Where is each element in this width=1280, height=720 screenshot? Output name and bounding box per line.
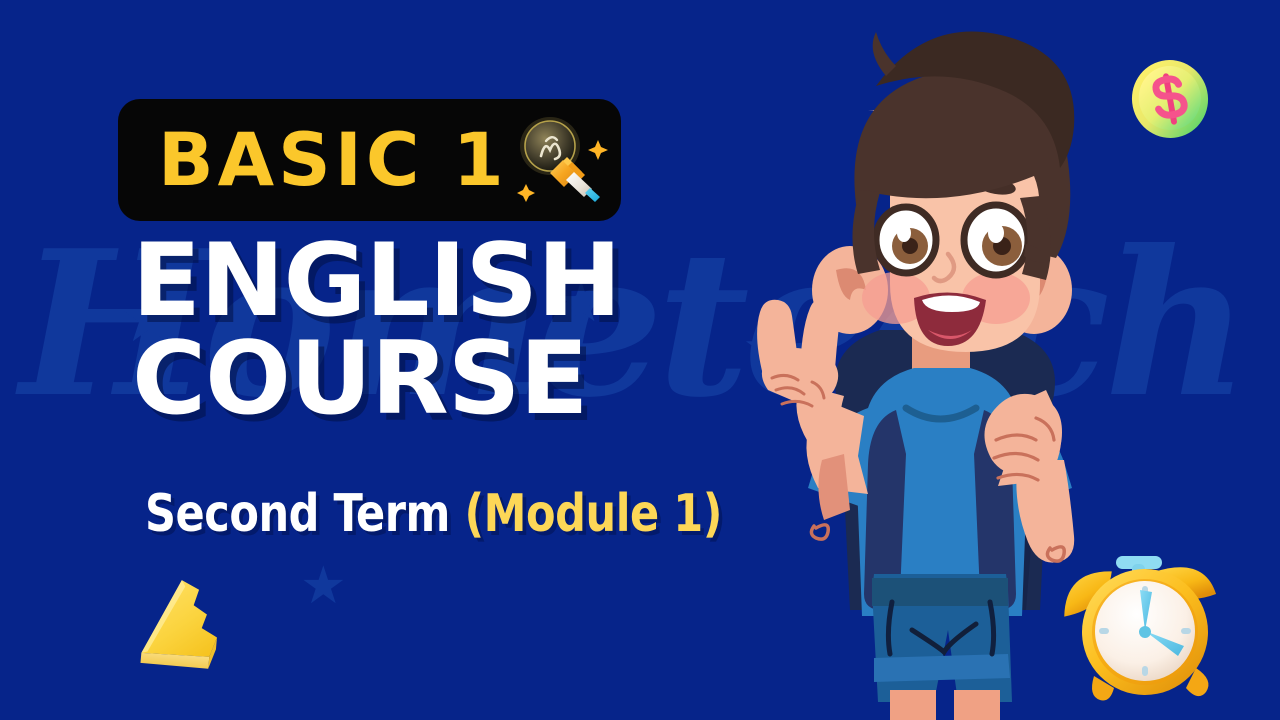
page-title-line-1: ENGLISH [132,232,621,330]
subtitle-term: Second Term [145,484,450,544]
page-title: ENGLISH COURSE [132,232,621,428]
boy-student-illustration [700,0,1180,720]
cheese-wedge-emoji [120,568,236,680]
level-badge-label: BASIC 1 [158,124,508,197]
lightbulb-pencil-emoji [508,108,612,212]
poster-canvas: Hometeach ★ ★ ★ ★ BASIC 1 [0,0,1280,720]
level-badge[interactable]: BASIC 1 [118,99,621,221]
watermark-star-icon: ★ [300,560,347,612]
subtitle-module: (Module 1) [464,484,721,544]
page-title-line-2: COURSE [132,330,621,428]
page-subtitle: Second Term (Module 1) [145,488,722,540]
